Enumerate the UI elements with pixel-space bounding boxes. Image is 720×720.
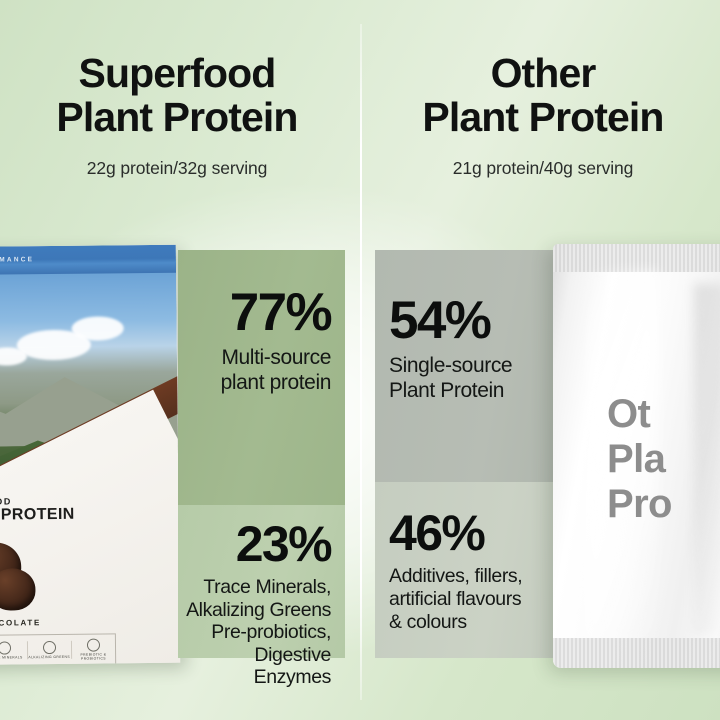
stat-block-additives: 46% Additives, fillers, artificial flavo… <box>375 482 573 658</box>
stat-block-trace-minerals: 23% Trace Minerals, Alkalizing Greens Pr… <box>178 505 345 658</box>
droplet-icon <box>0 641 11 654</box>
stat-block-single-source: 54% Single-source Plant Protein <box>375 250 573 482</box>
left-panel-header: Superfood Plant Protein 22g protein/32g … <box>12 52 342 179</box>
left-panel-title: Superfood Plant Protein <box>12 52 342 140</box>
stat-block-multi-source: 77% Multi-source plant protein <box>178 250 345 505</box>
other-protein-pouch: Ot Pla Pro <box>553 244 720 668</box>
stat-value: 77% <box>186 286 331 339</box>
cloud-shape <box>0 347 27 365</box>
stat-description: Additives, fillers, artificial flavours … <box>389 565 565 634</box>
stat-description: Trace Minerals, Alkalizing Greens Pre-pr… <box>182 576 331 689</box>
other-pouch-label: Ot Pla Pro <box>607 392 672 526</box>
stat-description: Multi-source plant protein <box>186 346 331 395</box>
pouch-fold-shadow <box>694 284 720 634</box>
truffle-shape <box>0 568 36 610</box>
pouch-bottom-crimp <box>553 638 720 668</box>
pouch-product-name: SUPERFOOD PLANT PROTEIN <box>0 496 75 526</box>
right-panel-subtitle: 21g protein/40g serving <box>378 158 708 179</box>
stat-description: Single-source Plant Protein <box>389 354 565 403</box>
benefit-2-caption: ALKALIZING GREENS <box>28 655 71 659</box>
right-panel-title: Other Plant Protein <box>378 52 708 140</box>
benefit-alkalizing-greens: ALKALIZING GREENS <box>27 641 71 660</box>
comparison-infographic: Superfood Plant Protein 22g protein/32g … <box>0 0 720 720</box>
right-panel-header: Other Plant Protein 21g protein/40g serv… <box>378 52 708 179</box>
chocolate-truffle-image <box>0 538 60 611</box>
stat-value: 54% <box>389 294 565 347</box>
probiotic-icon <box>87 638 100 651</box>
pouch-top-crimp <box>553 244 720 272</box>
pouch-benefit-strip: 3g PLANT FIBER TRACE MINERALS ALKALIZING… <box>0 633 116 665</box>
leaf-icon <box>43 641 56 654</box>
left-panel-subtitle: 22g protein/32g serving <box>12 158 342 179</box>
stat-value: 23% <box>182 519 331 569</box>
benefit-probiotics: PREBIOTIC & PROBIOTICS <box>72 638 115 661</box>
superfood-protein-pouch: OUR PERFORMANCE WELLBEING W NUTRITION SU… <box>0 245 180 666</box>
pouch-top-band-text: OUR PERFORMANCE <box>0 256 34 264</box>
cloud-shape <box>72 316 124 341</box>
stat-value: 46% <box>389 508 565 558</box>
benefit-trace-minerals: TRACE MINERALS <box>0 641 28 660</box>
panel-divider <box>360 24 362 700</box>
benefit-1-caption: TRACE MINERALS <box>0 656 27 660</box>
pouch-name-line2: PLANT PROTEIN <box>0 506 75 526</box>
pouch-flavour-label: DARK CHOCOLATE <box>0 618 41 628</box>
benefit-3-caption: PREBIOTIC & PROBIOTICS <box>72 653 115 661</box>
